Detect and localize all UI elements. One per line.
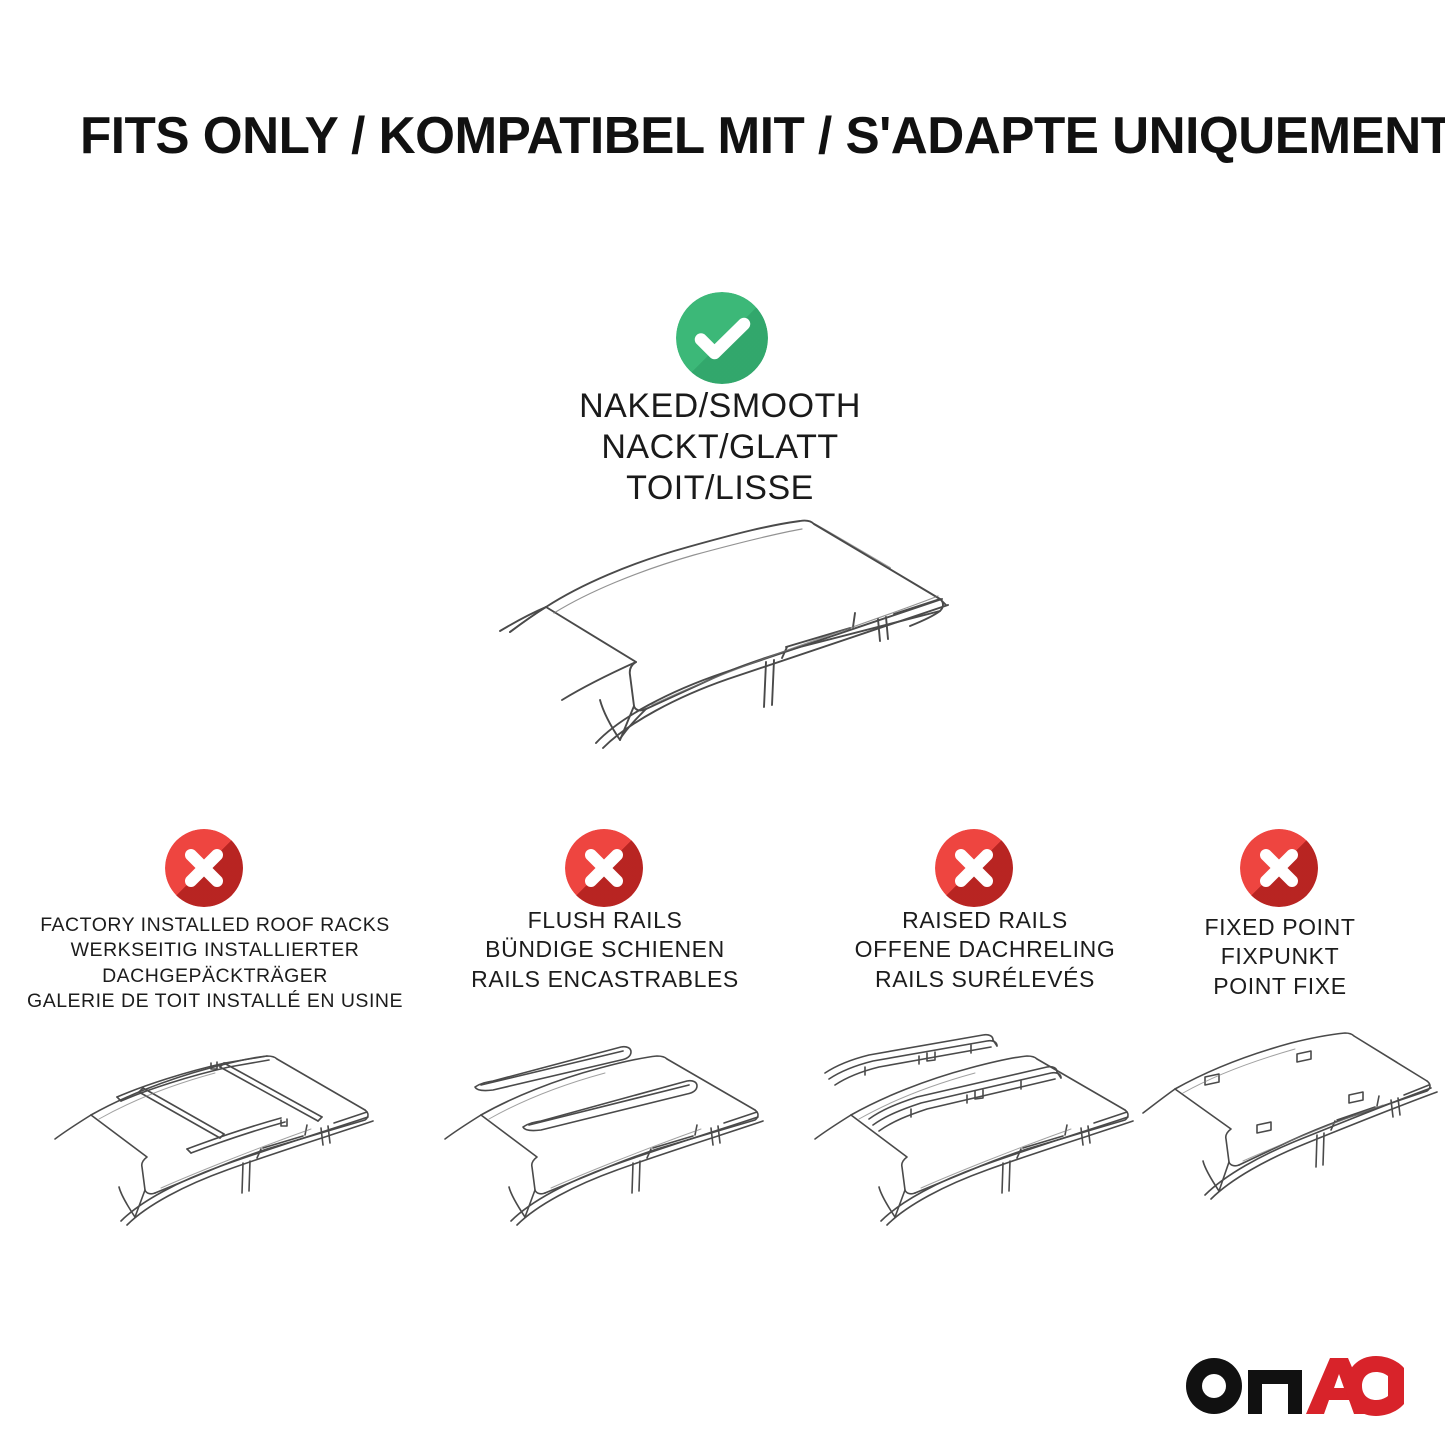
caption-line-en: FIXED POINT <box>1125 913 1435 942</box>
caption-line-en: RAISED RAILS <box>790 906 1180 935</box>
caption-line-fr: RAILS ENCASTRABLES <box>420 965 790 994</box>
page-title: FITS ONLY / KOMPATIBEL MIT / S'ADAPTE UN… <box>80 106 1361 166</box>
green-check-icon <box>676 292 768 384</box>
caption-line-de: FIXPUNKT <box>1125 942 1435 971</box>
infographic-page: FITS ONLY / KOMPATIBEL MIT / S'ADAPTE UN… <box>0 0 1445 1445</box>
red-x-icon-fixed-point <box>1240 829 1318 907</box>
caption-line-en: FLUSH RAILS <box>420 906 790 935</box>
caption-line-de-2: DACHGEPÄCKTRÄGER <box>10 964 420 989</box>
car-roof-with-raised-rails-illustration <box>795 1025 1170 1250</box>
car-roof-with-factory-rack-illustration <box>35 1025 410 1250</box>
compatible-caption: NAKED/SMOOTH NACKT/GLATT TOIT/LISSE <box>517 386 923 508</box>
caption-raised-rails: RAISED RAILS OFFENE DACHRELING RAILS SUR… <box>790 906 1180 994</box>
red-x-icon-factory-rack <box>165 829 243 907</box>
red-x-icon-raised-rails <box>935 829 1013 907</box>
omac-logo <box>1178 1348 1406 1420</box>
caption-factory-installed-roof-racks: FACTORY INSTALLED ROOF RACKS WERKSEITIG … <box>10 913 420 1014</box>
car-roof-with-flush-rails-illustration <box>425 1025 800 1250</box>
caption-fixed-point: FIXED POINT FIXPUNKT POINT FIXE <box>1125 913 1435 1001</box>
compatible-label-de: NACKT/GLATT <box>517 427 923 468</box>
caption-line-fr: POINT FIXE <box>1125 972 1435 1001</box>
caption-line-fr: GALERIE DE TOIT INSTALLÉ EN USINE <box>10 989 420 1014</box>
red-x-icon-flush-rails <box>565 829 643 907</box>
car-roof-with-fixed-points-illustration <box>1135 1025 1445 1250</box>
smooth-car-roof-illustration <box>470 495 1010 750</box>
caption-line-fr: RAILS SURÉLEVÉS <box>790 965 1180 994</box>
caption-line-de: BÜNDIGE SCHIENEN <box>420 935 790 964</box>
caption-line-de: OFFENE DACHRELING <box>790 935 1180 964</box>
caption-line-en: FACTORY INSTALLED ROOF RACKS <box>10 913 420 938</box>
compatible-label-en: NAKED/SMOOTH <box>517 386 923 427</box>
caption-flush-rails: FLUSH RAILS BÜNDIGE SCHIENEN RAILS ENCAS… <box>420 906 790 994</box>
caption-line-de-1: WERKSEITIG INSTALLIERTER <box>10 938 420 963</box>
